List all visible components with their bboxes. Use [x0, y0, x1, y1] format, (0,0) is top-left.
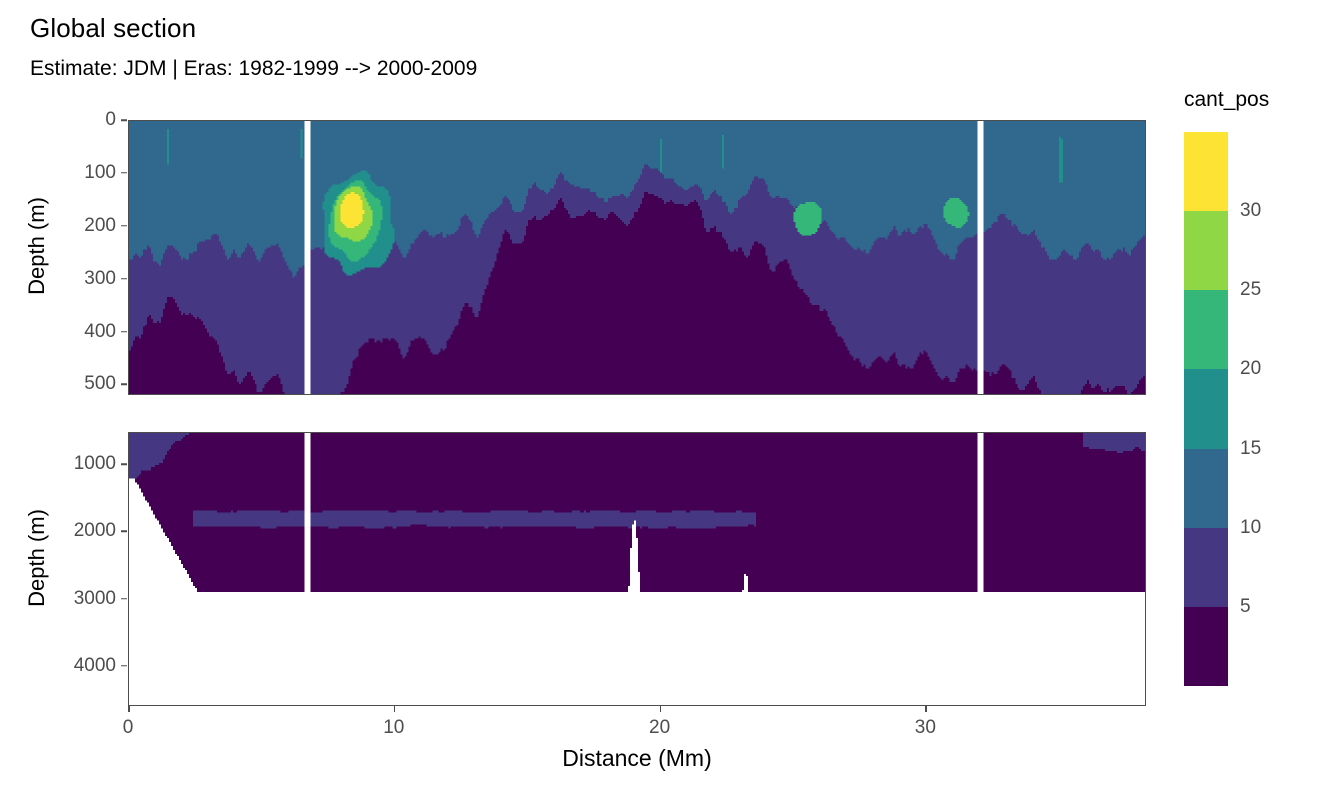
- legend-band: [1184, 290, 1228, 369]
- xtick-label: 20: [649, 717, 670, 739]
- upper-y-axis-label: Depth (m): [24, 171, 50, 321]
- upper-ytick-label: 200: [0, 215, 116, 237]
- xtick-label: 30: [915, 717, 936, 739]
- legend-band: [1184, 607, 1228, 686]
- legend-tick-label: 25: [1240, 279, 1261, 301]
- upper-ytick-mark: [121, 172, 127, 174]
- lower-ytick-label: 3000: [0, 588, 116, 610]
- page-title: Global section: [30, 13, 196, 44]
- page-subtitle: Estimate: JDM | Eras: 1982-1999 --> 2000…: [30, 57, 477, 81]
- x-axis-label: Distance (Mm): [128, 745, 1146, 772]
- legend-tick-label: 20: [1240, 358, 1261, 380]
- legend-band: [1184, 369, 1228, 448]
- lower-contour-canvas: [129, 433, 1145, 705]
- upper-ytick-label: 400: [0, 321, 116, 343]
- xtick-mark: [128, 706, 130, 712]
- legend-tick-label: 30: [1240, 200, 1261, 222]
- upper-ytick-label: 300: [0, 268, 116, 290]
- lower-ytick-mark: [121, 598, 127, 600]
- upper-contour-canvas: [129, 121, 1145, 394]
- lower-ytick-label: 4000: [0, 655, 116, 677]
- xtick-mark: [660, 706, 662, 712]
- legend-title: cant_pos: [1184, 88, 1269, 112]
- lower-ytick-mark: [121, 665, 127, 667]
- lower-y-axis-label: Depth (m): [24, 483, 50, 633]
- upper-ytick-mark: [121, 225, 127, 227]
- legend-band: [1184, 132, 1228, 211]
- legend-band: [1184, 528, 1228, 607]
- upper-ytick-mark: [121, 119, 127, 121]
- xtick-mark: [925, 706, 927, 712]
- lower-ytick-label: 1000: [0, 453, 116, 475]
- upper-section-panel: [128, 120, 1146, 395]
- xtick-label: 0: [123, 717, 134, 739]
- xtick-label: 10: [383, 717, 404, 739]
- upper-ytick-label: 0: [0, 109, 116, 131]
- legend-tick-label: 5: [1240, 596, 1251, 618]
- legend-tick-label: 15: [1240, 438, 1261, 460]
- upper-ytick-mark: [121, 384, 127, 386]
- legend-colorbar: [1184, 132, 1228, 686]
- colorbar-legend: cant_pos 30252015105: [1180, 88, 1344, 708]
- legend-tick-label: 10: [1240, 517, 1261, 539]
- legend-band: [1184, 211, 1228, 290]
- lower-ytick-label: 2000: [0, 520, 116, 542]
- lower-ytick-mark: [121, 463, 127, 465]
- lower-ytick-mark: [121, 531, 127, 533]
- xtick-mark: [394, 706, 396, 712]
- legend-band: [1184, 449, 1228, 528]
- upper-ytick-mark: [121, 331, 127, 333]
- lower-section-panel: [128, 432, 1146, 706]
- figure-root: Global section Estimate: JDM | Eras: 198…: [0, 0, 1344, 806]
- upper-ytick-label: 500: [0, 373, 116, 395]
- upper-ytick-label: 100: [0, 162, 116, 184]
- upper-ytick-mark: [121, 278, 127, 280]
